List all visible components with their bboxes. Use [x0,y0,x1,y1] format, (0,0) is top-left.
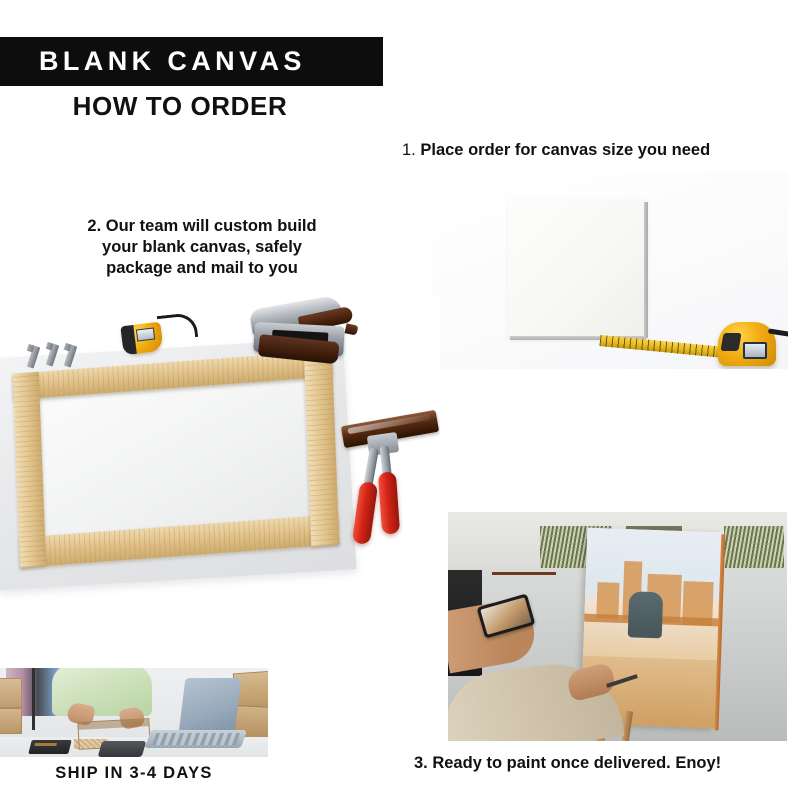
cardboard-box [0,708,22,734]
title-banner: BLANK CANVAS [0,37,383,86]
step-2-line-1: 2. Our team will custom build [44,216,360,237]
laptop-screen [179,678,242,734]
step-1-text: Place order for canvas size you need [420,141,710,159]
infographic-page: BLANK CANVAS HOW TO ORDER 1. Place order… [0,0,800,800]
canvas-right-edge [644,202,648,338]
pliers-red-handle [378,471,400,534]
staple-gun-tip [345,323,359,335]
photo-blank-canvas [432,172,788,369]
step-3-text: 3. Ready to paint once delivered. Enoy! [414,754,721,772]
shipping-time-label: SHIP IN 3-4 DAYS [0,764,268,783]
step-2-line-3: package and mail to you [44,258,360,279]
metal-staples-group [24,344,94,372]
clothing-rack-pole [32,668,35,730]
painting-figure [628,591,664,638]
pliers-head-highlight [347,414,431,434]
calculator-display [34,743,57,746]
tape-measure-body [718,322,776,366]
photo-packing-shipping [0,668,268,757]
page-subtitle: HOW TO ORDER [0,92,360,121]
page-title: BLANK CANVAS [0,48,306,75]
macrame-wall-hanging [724,526,784,568]
staple-icon [27,345,40,368]
cardboard-box [0,678,22,708]
photo-artist-painting [448,512,787,741]
step-1-caption: 1. Place order for canvas size you need [402,140,794,161]
canvas-pliers [340,414,440,554]
staple-gun [245,296,356,381]
step-3-caption: 3. Ready to paint once delivered. Enoy! [414,753,794,774]
frame-inner-canvas [40,378,311,535]
tape-measure-window [743,342,767,359]
pliers-red-handle [352,481,378,545]
laptop-keyboard [145,730,248,748]
laptop-keys [152,733,240,745]
staple-icon [46,343,59,366]
photo-wooden-frame [0,296,440,608]
step-2-caption: 2. Our team will custom build your blank… [44,216,360,279]
tape-measure-window [136,327,155,341]
tape-measure-slot [720,333,741,351]
staple-icon [64,344,77,367]
step-1-number: 1. [402,141,416,159]
wooden-stretcher-frame [13,350,340,567]
step-2-line-2: your blank canvas, safely [44,237,360,258]
blank-canvas-board [508,200,644,336]
calculator [28,740,71,754]
smartphone-on-desk [98,741,147,757]
box-flap [78,719,148,730]
tape-measure-cord [157,312,198,341]
